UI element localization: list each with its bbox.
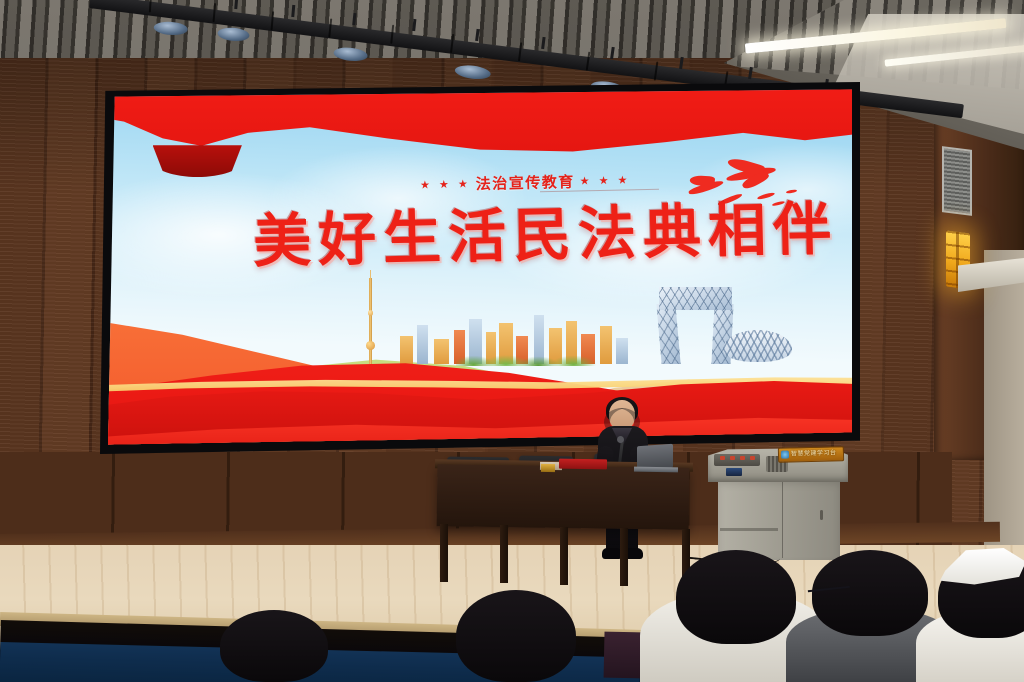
attendee-left-front xyxy=(214,606,334,682)
microphone-icon xyxy=(617,436,624,443)
stage-light-2 xyxy=(211,4,257,38)
podium-plaque: 智慧党建学习台 xyxy=(778,446,844,463)
table-leg-2 xyxy=(500,525,508,583)
podium-shelf-line xyxy=(720,528,778,531)
podium-button-1[interactable] xyxy=(720,456,725,460)
cctv-headquarters-icon xyxy=(659,287,732,363)
birds-nest-stadium-icon xyxy=(723,330,792,362)
podium-plaque-text: 智慧党建学习台 xyxy=(791,448,841,460)
podium-button-4[interactable] xyxy=(750,456,755,460)
podium-button-2[interactable] xyxy=(730,456,735,460)
stage-light-7 xyxy=(516,43,566,80)
podium-button-3[interactable] xyxy=(740,456,745,460)
presenter-shoe-left xyxy=(602,548,622,559)
podium-door-handle[interactable] xyxy=(820,510,823,520)
attendee-head xyxy=(676,550,796,644)
stage-light-3 xyxy=(269,12,314,48)
stage-light-1 xyxy=(148,0,196,32)
laptop-base xyxy=(634,467,678,473)
podium-display-screen[interactable] xyxy=(726,468,742,476)
presenter-table xyxy=(437,464,690,530)
multimedia-podium[interactable]: 智慧党建学习台 xyxy=(708,448,848,560)
oriental-pearl-tower-icon xyxy=(365,278,375,364)
ventilation-grille-icon xyxy=(942,146,972,216)
stage-light-4 xyxy=(327,19,378,58)
table-leg-3 xyxy=(560,527,568,585)
podium-door-seam xyxy=(782,482,783,558)
red-booklet xyxy=(559,459,607,470)
attendee-left-second xyxy=(448,586,584,682)
attendee-nurse-cap xyxy=(916,558,1024,682)
table-leg-1 xyxy=(440,524,448,582)
led-screen: ★ ★ ★ 法治宣传教育 ★ ★ ★ 美好生活民法典相伴 xyxy=(108,88,852,446)
podium-plaque-emblem-icon xyxy=(781,451,789,459)
podium-body xyxy=(718,480,840,560)
auditorium-photo: ★ ★ ★ 法治宣传教育 ★ ★ ★ 美好生活民法典相伴 xyxy=(0,0,1024,682)
trees-greenery xyxy=(456,353,603,366)
stage-light-6 xyxy=(448,35,502,77)
city-skyline-graphic xyxy=(361,271,793,364)
banner-main-title: 美好生活民法典相伴 xyxy=(252,182,839,279)
desk-nameplate xyxy=(541,464,555,472)
stage-light-5 xyxy=(389,26,436,60)
table-leg-4 xyxy=(620,528,628,586)
